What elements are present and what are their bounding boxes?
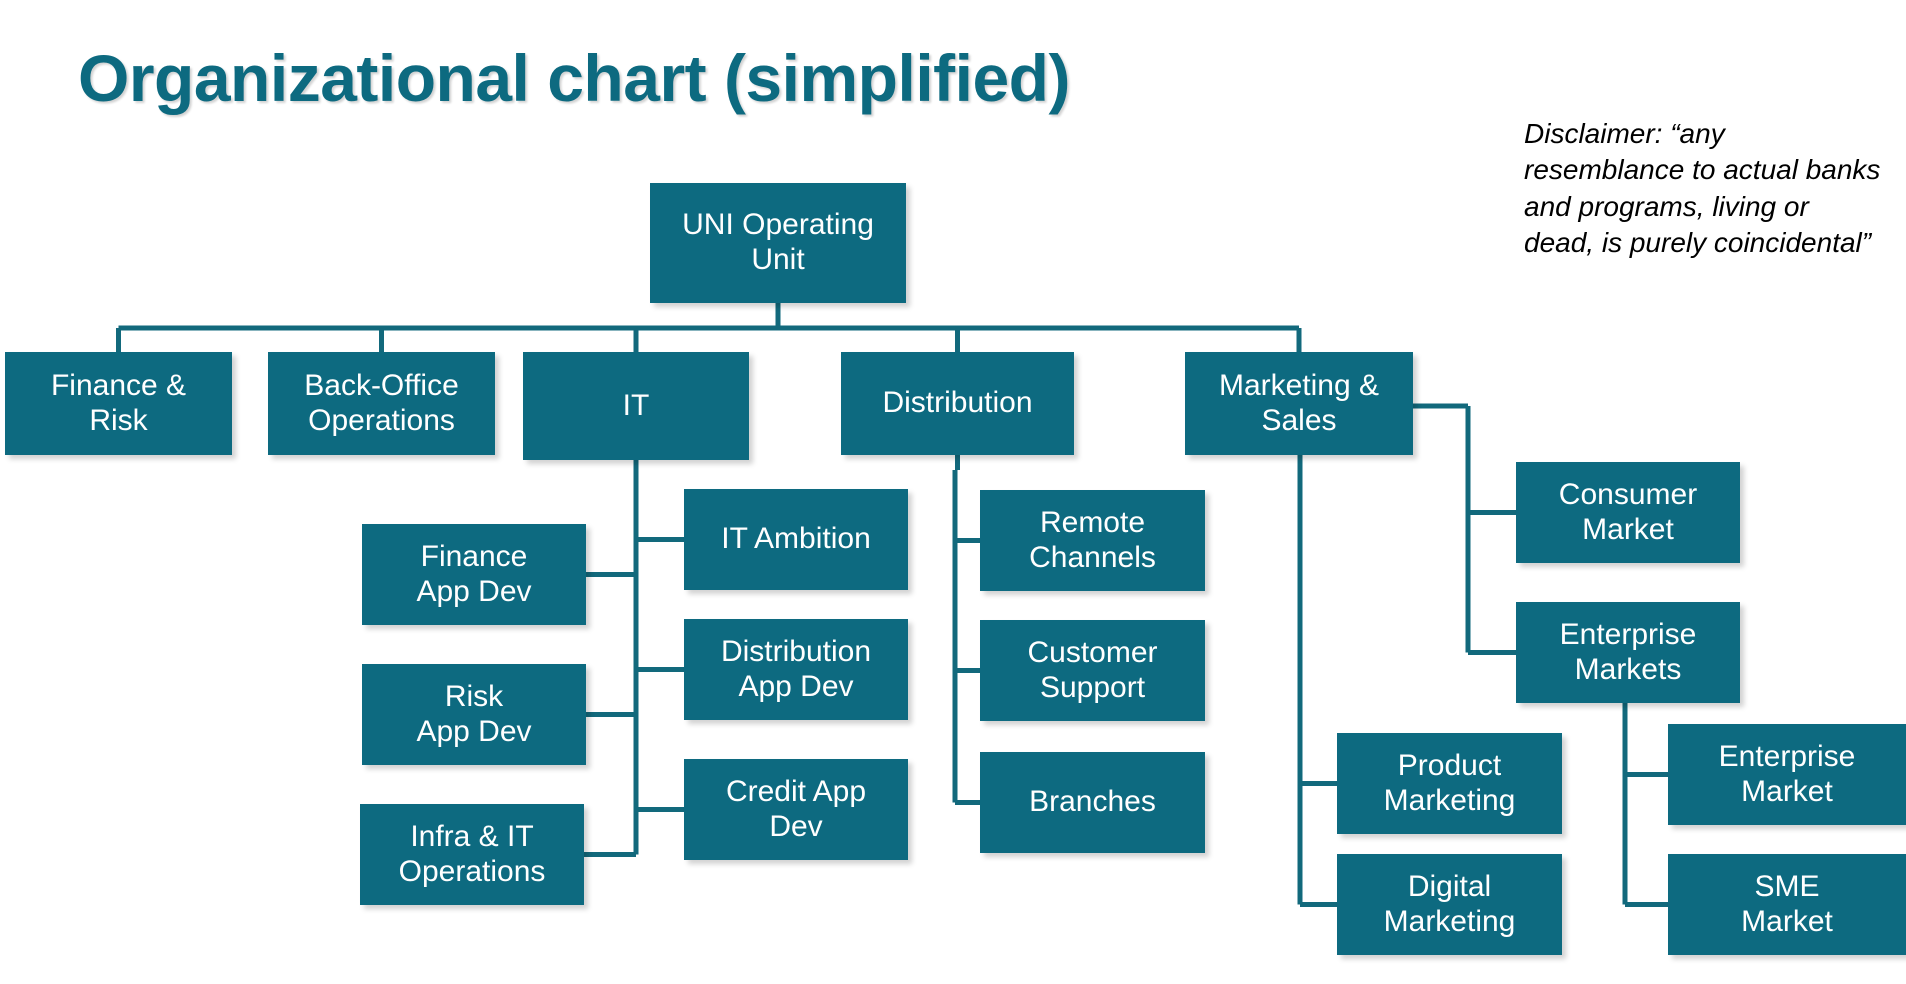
org-node-finance-risk[interactable]: Finance & Risk — [5, 352, 232, 455]
disclaimer-text: Disclaimer: “any resemblance to actual b… — [1524, 116, 1884, 262]
org-node-digital-mkt[interactable]: Digital Marketing — [1337, 854, 1562, 955]
org-node-enterprise-mkts[interactable]: Enterprise Markets — [1516, 602, 1740, 703]
org-node-label: IT — [623, 389, 650, 424]
org-chart-slide: Organizational chart (simplified) Discla… — [0, 0, 1906, 984]
org-node-label: Finance App Dev — [416, 540, 531, 610]
org-node-label: Enterprise Market — [1719, 740, 1856, 810]
org-node-product-mkt[interactable]: Product Marketing — [1337, 733, 1562, 834]
org-node-label: Remote Channels — [1029, 506, 1156, 576]
org-node-label: Distribution App Dev — [721, 635, 871, 705]
org-node-label: Product Marketing — [1384, 749, 1516, 819]
org-node-it[interactable]: IT — [523, 352, 749, 460]
org-node-label: Distribution — [882, 386, 1032, 421]
org-node-customer-support[interactable]: Customer Support — [980, 620, 1205, 721]
org-node-back-office[interactable]: Back-Office Operations — [268, 352, 495, 455]
org-node-label: Credit App Dev — [726, 775, 866, 845]
org-node-label: Back-Office Operations — [304, 369, 459, 439]
org-node-label: IT Ambition — [721, 522, 871, 557]
org-node-consumer-market[interactable]: Consumer Market — [1516, 462, 1740, 563]
org-node-label: Digital Marketing — [1384, 870, 1516, 940]
org-node-label: Branches — [1029, 785, 1156, 820]
org-node-risk-app-dev[interactable]: Risk App Dev — [362, 664, 586, 765]
org-node-distribution-app[interactable]: Distribution App Dev — [684, 619, 908, 720]
org-node-branches[interactable]: Branches — [980, 752, 1205, 853]
org-node-label: Enterprise Markets — [1560, 618, 1697, 688]
org-node-label: Risk App Dev — [416, 680, 531, 750]
org-node-credit-app-dev[interactable]: Credit App Dev — [684, 759, 908, 860]
org-node-finance-app-dev[interactable]: Finance App Dev — [362, 524, 586, 625]
org-node-label: SME Market — [1741, 870, 1833, 940]
org-node-uni[interactable]: UNI Operating Unit — [650, 183, 906, 303]
org-node-label: Customer Support — [1027, 636, 1157, 706]
org-node-marketing-sales[interactable]: Marketing & Sales — [1185, 352, 1413, 455]
org-node-label: Marketing & Sales — [1219, 369, 1379, 439]
org-node-it-ambition[interactable]: IT Ambition — [684, 489, 908, 590]
org-node-infra-it-ops[interactable]: Infra & IT Operations — [360, 804, 584, 905]
org-node-label: Finance & Risk — [51, 369, 186, 439]
page-title: Organizational chart (simplified) — [78, 40, 1070, 116]
org-node-remote-channels[interactable]: Remote Channels — [980, 490, 1205, 591]
org-node-enterprise-market[interactable]: Enterprise Market — [1668, 724, 1906, 825]
org-node-label: UNI Operating Unit — [682, 208, 874, 278]
org-node-label: Consumer Market — [1559, 478, 1697, 548]
org-node-sme-market[interactable]: SME Market — [1668, 854, 1906, 955]
org-node-label: Infra & IT Operations — [399, 820, 546, 890]
org-node-distribution[interactable]: Distribution — [841, 352, 1074, 455]
